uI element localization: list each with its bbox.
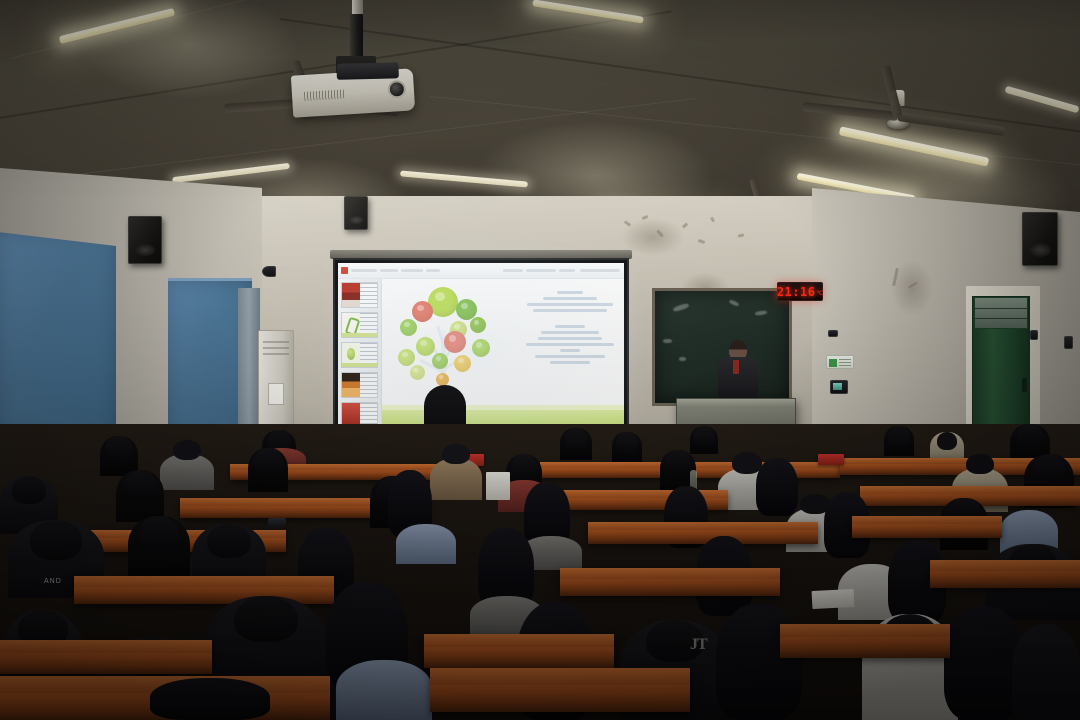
thumbnail-slide-1[interactable] [341, 282, 378, 308]
wall-switch[interactable] [1064, 336, 1073, 349]
slide-thumbnail-panel[interactable] [338, 279, 382, 431]
desk-row [0, 640, 212, 674]
thumbnail-slide-2[interactable] [341, 312, 378, 338]
projector-lens [387, 80, 406, 99]
tree-leaf [432, 353, 448, 369]
wall-speaker-right [1022, 212, 1058, 266]
red-book-on-desk [818, 454, 844, 465]
door-handle[interactable] [1022, 378, 1027, 392]
audience-member [884, 426, 914, 456]
jacket-logo-text: AND [44, 578, 62, 585]
desk-row [560, 568, 780, 596]
led-clock: 21:16 ℃ [777, 282, 823, 301]
tree-leaf [470, 317, 486, 333]
tree-leaf [410, 365, 425, 380]
mobile-phone [268, 518, 286, 527]
wall-sensor [828, 330, 838, 337]
tree-leaf [454, 355, 471, 372]
projector [291, 68, 415, 117]
white-paper [812, 589, 855, 609]
thumbnail-slide-3[interactable] [341, 342, 378, 368]
audience-member-hair [150, 678, 270, 720]
presentation-toolbar [338, 263, 624, 279]
desk-row [424, 634, 614, 668]
camera-left [262, 266, 276, 277]
wall-speaker-left [128, 216, 162, 264]
wall-outlet [1030, 330, 1038, 340]
audience-member [612, 432, 642, 462]
door-transom-window [974, 297, 1028, 329]
audience-member-hair [756, 458, 798, 516]
desk-row [780, 624, 950, 658]
audience-member [160, 454, 214, 490]
audience-member-hair [716, 604, 802, 720]
tree-leaf [400, 319, 417, 336]
audience-member [396, 524, 456, 564]
desk-row [852, 516, 1002, 538]
audience-member [1012, 624, 1080, 720]
desk-row [930, 560, 1080, 588]
jersey-number-text: JT [690, 636, 707, 654]
clock-suffix: ℃ [816, 291, 823, 297]
audience-member [248, 448, 288, 492]
tree-leaf [472, 339, 490, 357]
projection-screen [333, 258, 629, 436]
tree-leaf [444, 331, 466, 353]
person-at-lectern [716, 340, 760, 402]
notice-sign [826, 355, 854, 369]
tree-leaf [416, 337, 435, 356]
clock-time: 21:16 [777, 286, 816, 298]
audience-area: AND JT [0, 424, 1080, 720]
wall-speaker-center [344, 196, 368, 230]
app-logo-icon [341, 267, 348, 274]
projector-mount-sleeve [350, 14, 363, 60]
audience-member [336, 660, 432, 720]
audience-member [430, 458, 482, 500]
desk-row [588, 522, 818, 544]
card-reader-device[interactable] [830, 380, 848, 394]
white-paper [486, 472, 510, 500]
slide-surface [338, 263, 624, 431]
audience-member [116, 470, 164, 522]
window-blind-left [0, 232, 116, 442]
audience-member [128, 516, 190, 578]
lecture-hall-photo: 21:16 ℃ [0, 0, 1080, 720]
audience-member [560, 428, 592, 460]
tree-leaf [412, 301, 433, 322]
tree-leaf [398, 349, 415, 366]
slide-text-block [522, 291, 618, 364]
desk-row [430, 668, 690, 712]
audience-member [690, 426, 718, 454]
thumbnail-slide-4[interactable] [341, 372, 378, 398]
